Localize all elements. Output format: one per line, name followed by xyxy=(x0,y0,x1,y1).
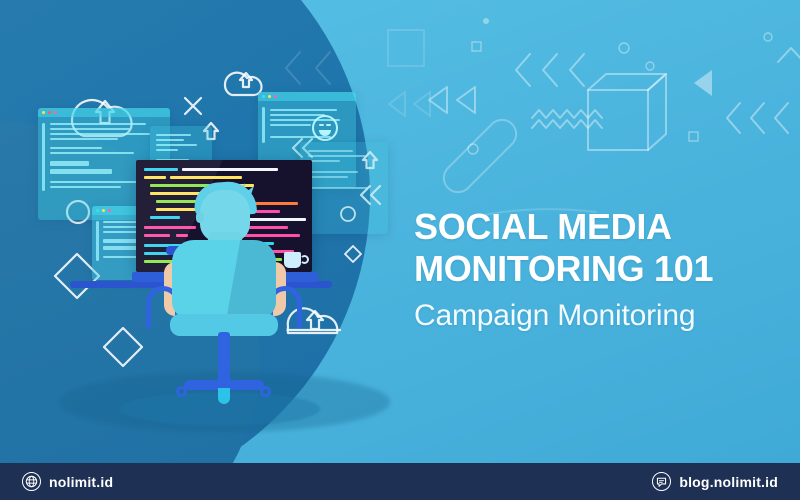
chair-backrest-shading xyxy=(172,240,276,318)
chair-caster-left xyxy=(176,386,187,397)
window-dot-pink xyxy=(108,209,111,212)
footer-brand-left[interactable]: nolimit.id xyxy=(22,472,113,491)
office-chair xyxy=(140,240,308,410)
ui-window-right-panel xyxy=(300,142,388,234)
window-body xyxy=(300,142,388,200)
window-dot-pink xyxy=(54,111,57,114)
window-dot-yellow xyxy=(268,95,271,98)
window-dot-cyan xyxy=(262,95,265,98)
footer-bar: nolimit.id blog.nolimit.id xyxy=(0,463,800,500)
window-titlebar xyxy=(258,92,356,101)
banner-canvas: SOCIAL MEDIA MONITORING 101 Campaign Mon… xyxy=(0,0,800,500)
window-dot-pink xyxy=(274,95,277,98)
page-subtitle: Campaign Monitoring xyxy=(414,297,786,335)
person-ear xyxy=(196,212,204,223)
headline-line-2: MONITORING 101 xyxy=(414,248,713,289)
footer-brand-right[interactable]: blog.nolimit.id xyxy=(652,472,778,491)
window-dot-cyan xyxy=(96,209,99,212)
window-dot-yellow xyxy=(42,111,45,114)
chat-bubble-icon xyxy=(652,472,671,491)
chair-pole xyxy=(218,332,230,386)
page-title: SOCIAL MEDIA MONITORING 101 xyxy=(414,206,786,290)
headline-block: SOCIAL MEDIA MONITORING 101 Campaign Mon… xyxy=(414,206,786,334)
globe-icon xyxy=(22,472,41,491)
footer-brand-right-label: blog.nolimit.id xyxy=(679,474,778,490)
window-sidebar-strip xyxy=(42,123,45,191)
chair-center-foot xyxy=(218,388,230,404)
footer-brand-left-label: nolimit.id xyxy=(49,474,113,490)
window-titlebar xyxy=(38,108,170,117)
smiley-face-icon xyxy=(310,113,340,143)
window-dot-red xyxy=(48,111,51,114)
window-sidebar-strip xyxy=(262,107,265,143)
headline-line-1: SOCIAL MEDIA xyxy=(414,206,672,247)
chair-caster-right xyxy=(260,386,271,397)
window-dot-yellow xyxy=(102,209,105,212)
window-sidebar-strip xyxy=(96,221,99,261)
